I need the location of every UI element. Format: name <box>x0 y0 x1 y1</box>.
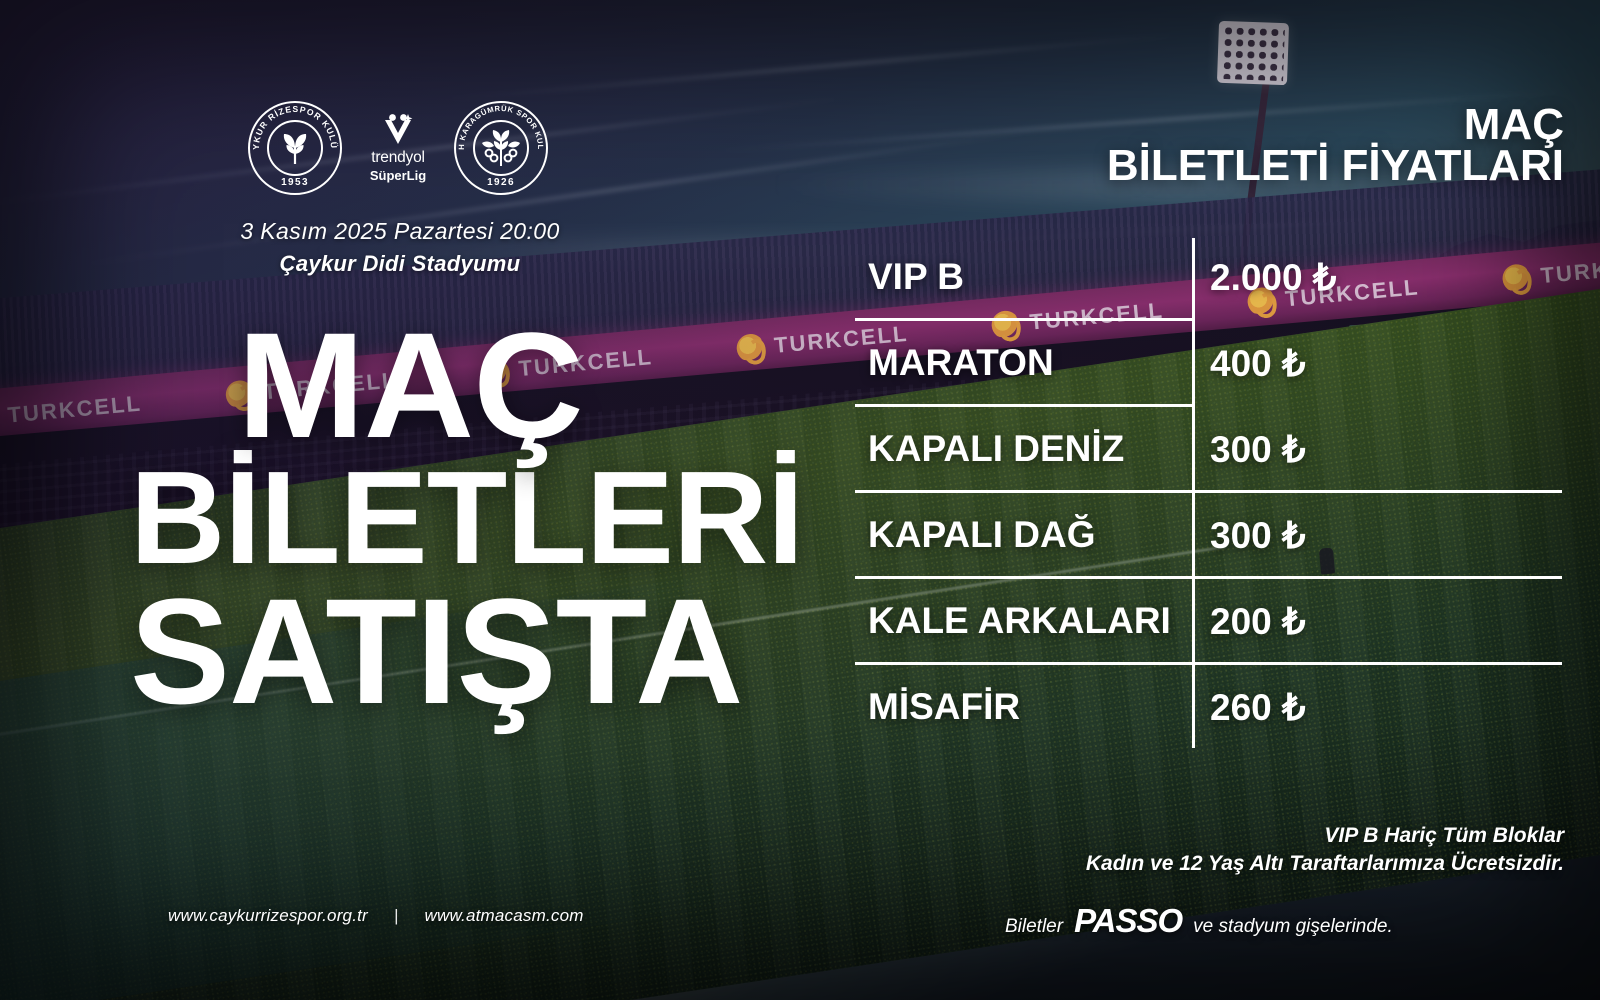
superlig-wordmark: SüperLig <box>355 168 441 183</box>
tickets-prefix-label: Biletler <box>1005 916 1063 938</box>
table-cell-block: KAPALI DENİZ <box>868 428 1124 470</box>
headline-line-1: MAÇ <box>124 318 695 453</box>
table-row-divider <box>855 662 1562 665</box>
poster-canvas: TURKCELL TURKCELL TURKCELL TURKCELL TURK… <box>0 0 1600 1000</box>
note-line-1: VIP B Hariç Tüm Bloklar <box>1086 822 1564 850</box>
price-title-line-1: MAÇ <box>1107 104 1564 145</box>
table-cell-price: 260 ₺ <box>1210 686 1306 729</box>
table-row: MİSAFİR 260 ₺ <box>855 662 1562 748</box>
table-cell-block: MARATON <box>868 342 1054 384</box>
table-cell-block: MİSAFİR <box>868 686 1020 728</box>
table-cell-block: KALE ARKALARI <box>868 600 1171 642</box>
headline-line-2: BİLETLERİ <box>130 459 690 578</box>
ticket-outlets: Biletler PASSO ve stadyum gişelerinde. <box>1005 902 1393 940</box>
price-table-title: MAÇ BİLETLETİ FİYATLARI <box>1107 104 1564 187</box>
agency-website-link[interactable]: www.atmacasm.com <box>425 906 584 926</box>
karagumruk-crest-icon: FATİH KARAGÜMRÜK SPOR KULÜBÜ 1926 <box>454 101 548 195</box>
match-datetime: 3 Kasım 2025 Pazartesi 20:00 <box>120 218 680 245</box>
svg-text:FATİH KARAGÜMRÜK SPOR KULÜBÜ: FATİH KARAGÜMRÜK SPOR KULÜBÜ <box>454 101 545 150</box>
table-cell-price: 300 ₺ <box>1210 428 1306 471</box>
table-cell-block: VIP B <box>868 256 964 298</box>
trendyol-wordmark: trendyol <box>355 149 441 167</box>
table-row-divider <box>855 490 1562 493</box>
table-row: VIP B 2.000 ₺ <box>855 232 1562 318</box>
passo-brand-label[interactable]: PASSO <box>1074 902 1182 940</box>
table-row: KALE ARKALARI 200 ₺ <box>855 576 1562 662</box>
crest-founding-year: 1926 <box>454 177 548 188</box>
table-row: KAPALI DAĞ 300 ₺ <box>855 490 1562 576</box>
footer-links: www.caykurrizespor.org.tr | www.atmacasm… <box>168 906 584 926</box>
club-website-link[interactable]: www.caykurrizespor.org.tr <box>168 906 368 926</box>
svg-text:ÇAYKUR RİZESPOR KULÜBÜ: ÇAYKUR RİZESPOR KULÜBÜ <box>248 101 339 150</box>
table-row-divider <box>855 576 1562 579</box>
main-headline: MAÇ BİLETLERİ SATIŞTA <box>130 318 690 719</box>
note-line-2: Kadın ve 12 Yaş Altı Taraftarlarımıza Üc… <box>1086 850 1564 878</box>
table-row: KAPALI DENİZ 300 ₺ <box>855 404 1562 490</box>
price-table: VIP B 2.000 ₺ MARATON 400 ₺ KAPALI DENİZ… <box>855 232 1562 748</box>
table-row: MARATON 400 ₺ <box>855 318 1562 404</box>
tickets-suffix-label: ve stadyum gişelerinde. <box>1193 916 1393 938</box>
table-row-divider <box>855 404 1192 407</box>
table-cell-price: 2.000 ₺ <box>1210 256 1336 299</box>
table-cell-block: KAPALI DAĞ <box>868 514 1095 556</box>
price-title-line-2: BİLETLETİ FİYATLARI <box>1107 145 1564 186</box>
table-cell-price: 300 ₺ <box>1210 514 1306 557</box>
table-cell-price: 200 ₺ <box>1210 600 1306 643</box>
match-info: 3 Kasım 2025 Pazartesi 20:00 Çaykur Didi… <box>120 218 680 277</box>
caykur-rizespor-crest-icon: ÇAYKUR RİZESPOR KULÜBÜ 1953 <box>248 101 342 195</box>
crest-founding-year: 1953 <box>248 177 342 188</box>
table-cell-price: 400 ₺ <box>1210 342 1306 385</box>
trendyol-superlig-logo: trendyol SüperLig <box>355 113 441 183</box>
logo-row: ÇAYKUR RİZESPOR KULÜBÜ 1953 trendyol Süp… <box>248 100 548 196</box>
table-row-divider <box>855 318 1192 321</box>
footer-separator: | <box>394 906 399 926</box>
free-entry-note: VIP B Hariç Tüm Bloklar Kadın ve 12 Yaş … <box>1086 822 1564 879</box>
headline-line-3: SATIŞTA <box>130 584 690 719</box>
match-venue: Çaykur Didi Stadyumu <box>120 251 680 277</box>
trendyol-mark-icon <box>355 113 441 147</box>
